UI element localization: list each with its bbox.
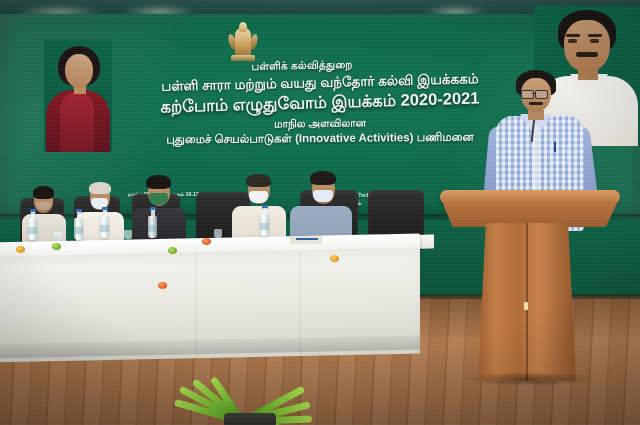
marigold-decoration-4 [168,247,177,254]
drinking-glass-3 [214,229,222,238]
pen-on-table [296,238,318,240]
drinking-glass-1 [54,232,62,241]
marigold-decoration-5 [158,282,167,289]
water-bottle-5 [260,214,269,236]
marigold-decoration-1 [16,246,25,253]
event-photograph: பள்ளிக் கல்வித்துறை பள்ளி சாரா மற்றும் வ… [0,0,640,425]
notepad [290,235,322,244]
marigold-decoration-6 [330,255,339,262]
water-bottle-2 [74,218,83,240]
eyeglasses-left-lens [521,90,534,99]
wooden-podium [430,190,640,425]
water-bottle-1 [28,218,37,240]
potted-palm [176,330,316,425]
tamil-nadu-state-emblem-icon [228,22,258,64]
eyeglasses-right-lens [535,90,548,99]
drinking-glass-2 [124,230,132,239]
marigold-decoration-3 [202,238,211,245]
water-bottle-3 [100,216,109,238]
water-bottle-4 [148,216,157,238]
marigold-decoration-2 [52,243,61,250]
